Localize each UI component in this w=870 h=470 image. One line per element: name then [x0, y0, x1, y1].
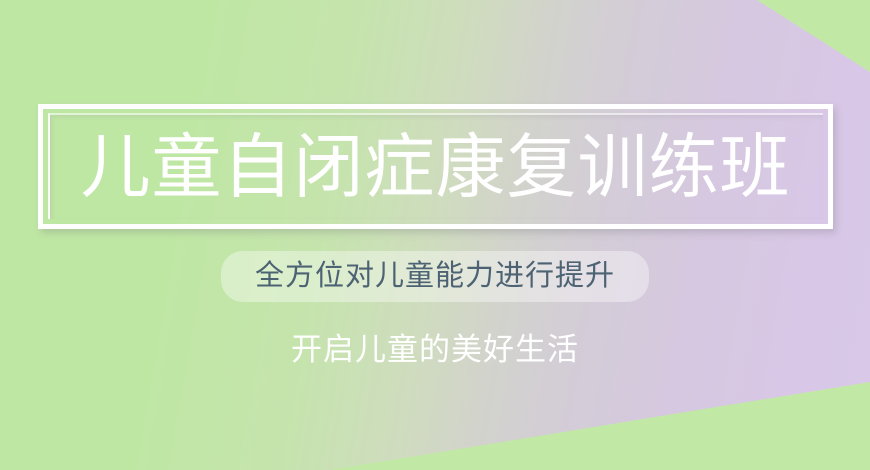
course-banner: 儿童自闭症康复训练班 全方位对儿童能力进行提升 开启儿童的美好生活 [0, 0, 870, 470]
banner-subtitle-pill: 全方位对儿童能力进行提升 [221, 251, 649, 302]
banner-tagline: 开启儿童的美好生活 [0, 332, 870, 369]
banner-title: 儿童自闭症康复训练班 [43, 132, 828, 202]
title-frame: 儿童自闭症康复训练班 [38, 104, 833, 229]
background-gradient-sheet [0, 0, 870, 470]
